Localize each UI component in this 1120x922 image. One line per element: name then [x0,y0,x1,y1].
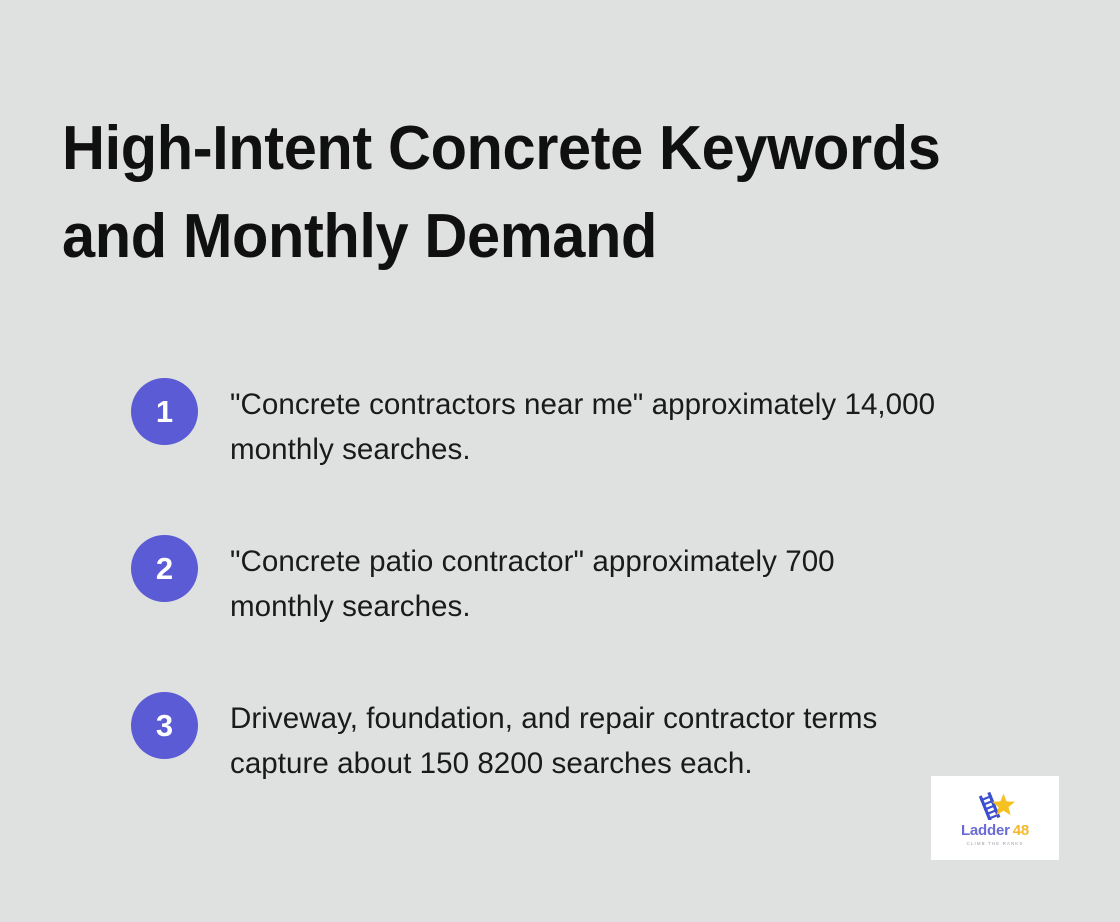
brand-tagline: CLIMB THE RANKS [967,842,1024,846]
brand-wordmark: Ladder48 [961,823,1029,838]
list-item: 1 "Concrete contractors near me" approxi… [131,376,1061,472]
list-item-text: "Concrete contractors near me" approxima… [230,376,1049,472]
page-title: High-Intent Concrete Keywords and Monthl… [62,105,1022,281]
ladder-star-logo-icon [972,789,1018,820]
list-item-text: "Concrete patio contractor" approximatel… [230,533,1049,629]
slide-canvas: High-Intent Concrete Keywords and Monthl… [0,0,1120,922]
list-item: 3 Driveway, foundation, and repair contr… [131,690,1061,786]
list-item-number-badge: 3 [131,692,198,759]
brand-name-accent: 48 [1013,822,1029,839]
brand-logo-card: Ladder48 CLIMB THE RANKS [931,776,1059,860]
list-item-number-badge: 2 [131,535,198,602]
list-item-number-badge: 1 [131,378,198,445]
brand-name-primary: Ladder [961,822,1010,839]
list-item-text: Driveway, foundation, and repair contrac… [230,690,1049,786]
list-item: 2 "Concrete patio contractor" approximat… [131,533,1061,629]
numbered-list: 1 "Concrete contractors near me" approxi… [131,376,1061,786]
